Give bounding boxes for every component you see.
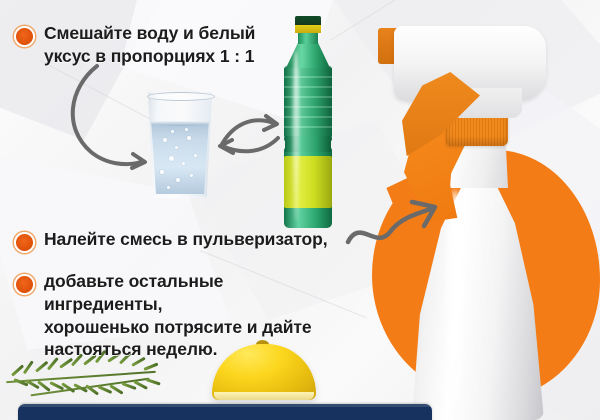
- step-3-line-1: добавьте остальные ингредиенты,: [44, 270, 334, 316]
- navy-banner-bar-highlight: [18, 404, 432, 407]
- arrow-to-glass: [55, 62, 170, 177]
- step-item-1: Смешайте воду и белый уксус в пропорциях…: [14, 22, 314, 68]
- step-2-text: Налейте смесь в пульверизатор,: [44, 228, 328, 251]
- water-bubble: [190, 174, 193, 177]
- arrow-to-spray-bottle: [342, 196, 450, 254]
- water-bubble: [185, 128, 188, 131]
- water-bubble: [187, 136, 191, 140]
- step-item-3: добавьте остальные ингредиенты, хорошень…: [14, 270, 334, 361]
- step-3-text: добавьте остальные ингредиенты, хорошень…: [44, 270, 334, 361]
- arrow-glass-to-vinegar: [214, 108, 286, 162]
- vinegar-bottle-highlight: [293, 50, 299, 222]
- orange-dot-icon: [14, 232, 35, 253]
- step-3-line-2: хорошенько потрясите и дайте: [44, 316, 334, 339]
- orange-dot-icon: [14, 26, 35, 47]
- lemon-pith: [214, 392, 314, 400]
- water-bubble: [175, 146, 178, 149]
- rosemary-needle: [23, 360, 34, 374]
- step-1-line-1: Смешайте воду и белый: [44, 22, 255, 45]
- vinegar-bottle-waist: [285, 136, 331, 152]
- water-bubble: [167, 186, 170, 189]
- step-1-line-2: уксус в пропорциях 1 : 1: [44, 45, 255, 68]
- water-bubble: [176, 178, 180, 182]
- step-item-2: Налейте смесь в пульверизатор,: [14, 228, 344, 253]
- step-3-line-3: настояться неделю.: [44, 338, 334, 361]
- vinegar-bottle-upper: [284, 66, 332, 142]
- rosemary-needle: [143, 362, 158, 370]
- step-1-text: Смешайте воду и белый уксус в пропорциях…: [44, 22, 255, 68]
- rosemary-needle: [146, 378, 161, 385]
- step-2-line-1: Налейте смесь в пульверизатор,: [44, 228, 328, 251]
- water-bubble: [194, 154, 197, 157]
- rosemary-needle: [35, 361, 48, 373]
- water-bubble: [182, 162, 185, 165]
- water-bubble: [171, 130, 174, 133]
- rosemary-needle: [11, 364, 24, 376]
- orange-dot-icon: [14, 274, 35, 295]
- vinegar-bottle-liquid: [284, 156, 332, 208]
- infographic-canvas: Смешайте воду и белый уксус в пропорциях…: [0, 0, 600, 420]
